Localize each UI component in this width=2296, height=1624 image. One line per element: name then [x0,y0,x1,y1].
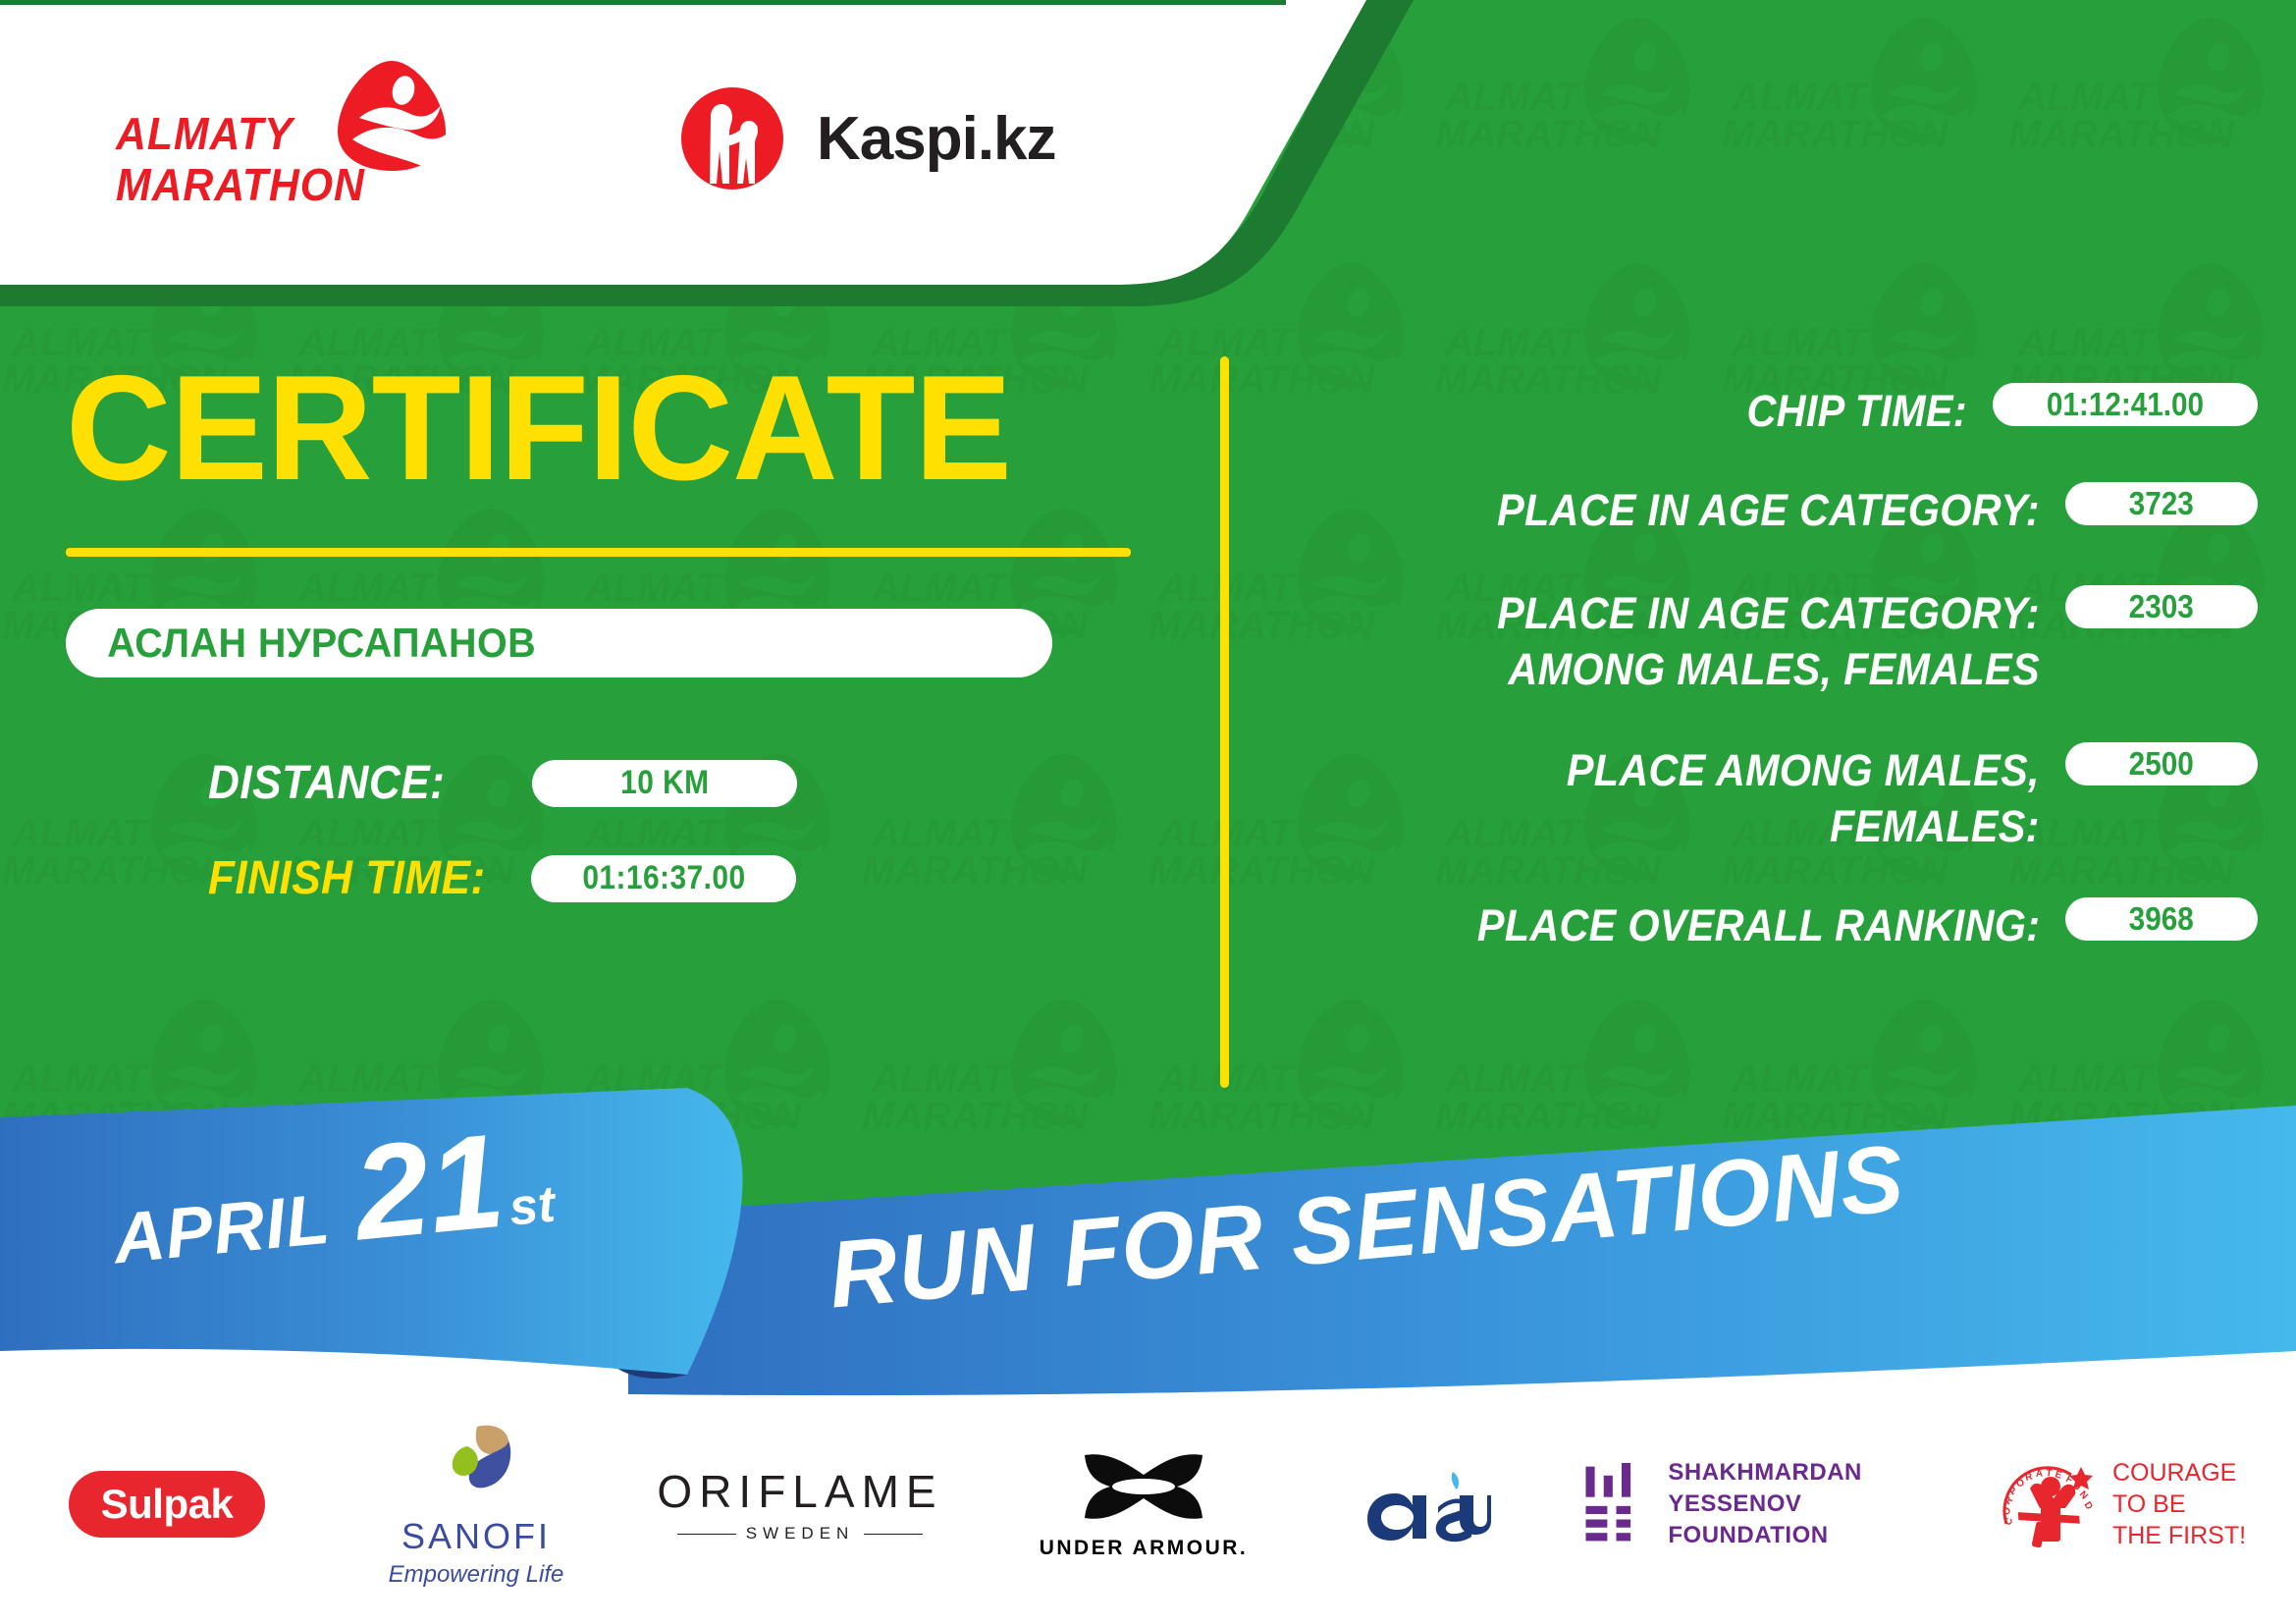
yessenov-foundation-logo [1580,1459,1648,1549]
oriflame-wordmark: ORIFLAME [657,1465,942,1518]
result-value: 3968 [2129,900,2194,938]
svg-text:O: O [2001,1505,2014,1517]
result-label: CHIP TIME: [1747,383,1967,439]
distance-label: DISTANCE: [208,756,445,810]
sponsor-sulpak: Sulpak [0,1471,334,1538]
finish-time-value: 01:16:37.00 [582,859,745,897]
sponsor-courage-fund: C O R P O R A T E F U N D CO [1973,1453,2268,1555]
logo-line-2: MARATHON [116,159,365,210]
result-value-pill: 2303 [2065,585,2258,628]
under-armour-wordmark: UNDER ARMOUR. [1040,1537,1249,1560]
certificate-left-column: CERTIFICATE АСЛАН НУРСАПАНОВ DISTANCE: 1… [54,353,1163,905]
certificate-title: CERTIFICATE [66,353,1142,503]
header-top-accent-line [0,0,1286,5]
kaspi-circle-people-icon [677,83,787,193]
sponsor-under-armour: UNDER ARMOUR. [982,1449,1306,1560]
result-row: PLACE AMONG MALES, FEMALES: 2500 [1276,742,2258,854]
courage-tagline: COURAGE TO BE THE FIRST! [2112,1457,2246,1551]
oriflame-rule-left [677,1534,736,1535]
sponsor-bar: Sulpak SANOFI Empowering Life ORIFLAME S… [0,1426,2296,1583]
result-label: PLACE IN AGE CATEGORY: [1497,482,2040,538]
result-value: 01:12:41.00 [2047,386,2204,423]
svg-text:N: N [2077,1489,2090,1502]
almaty-marathon-logo: ALMATY MARATHON [116,57,459,185]
event-day-suffix: st [507,1175,558,1238]
kaspi-logo: Kaspi.kz [677,83,1056,193]
courage-to-be-the-first-logo: C O R P O R A T E F U N D [1995,1453,2103,1555]
sponsor-oriflame: ORIFLAME SWEDEN [618,1465,982,1543]
sanofi-tagline: Empowering Life [389,1561,564,1589]
svg-text:E: E [2054,1469,2063,1482]
title-underline-rule [66,548,1131,557]
finish-time-label: FINISH TIME: [208,851,486,905]
result-row: PLACE IN AGE CATEGORY: 3723 [1276,482,2258,538]
result-row: PLACE IN AGE CATEGORY: AMONG MALES, FEMA… [1276,585,2258,697]
asu-logo [1360,1460,1526,1544]
result-value: 2500 [2129,745,2194,783]
result-value: 2303 [2129,588,2194,625]
yessenov-foundation-wordmark: SHAKHMARDAN YESSENOV FOUNDATION [1668,1457,1973,1551]
event-day: 21 [349,1121,508,1253]
distance-value: 10 KM [620,764,709,802]
svg-text:F: F [2064,1474,2075,1487]
result-value-pill: 01:12:41.00 [1993,383,2258,426]
oriflame-country: SWEDEN [746,1524,855,1543]
column-divider [1220,356,1229,1088]
result-value-pill: 3968 [2065,897,2258,941]
svg-text:D: D [2081,1500,2094,1512]
sanofi-wordmark: SANOFI [389,1516,564,1557]
participant-name-field: АСЛАН НУРСАПАНОВ [66,609,1052,677]
sanofi-logo [432,1421,520,1507]
finish-time-value-pill: 01:16:37.00 [531,855,796,902]
certificate-page: ALMATY MARATHON ALMATY [0,0,2296,1624]
sulpak-logo: Sulpak [69,1471,265,1538]
sponsor-yessenov-foundation: SHAKHMARDAN YESSENOV FOUNDATION [1580,1457,1973,1551]
result-value: 3723 [2129,485,2194,522]
kaspi-wordmark: Kaspi.kz [817,104,1056,174]
svg-text:R: R [2024,1471,2034,1484]
svg-text:A: A [2035,1469,2043,1480]
participant-name-value: АСЛАН НУРСАПАНОВ [66,620,536,667]
oriflame-sub: SWEDEN [657,1524,942,1543]
sulpak-wordmark: Sulpak [101,1481,234,1528]
results-column: CHIP TIME: 01:12:41.00 PLACE IN AGE CATE… [1276,383,2258,997]
result-value-pill: 3723 [2065,482,2258,525]
result-label: PLACE AMONG MALES, FEMALES: [1567,742,2040,854]
sponsor-asu [1306,1460,1580,1549]
oriflame-rule-right [864,1534,923,1535]
almaty-marathon-wordmark: ALMATY MARATHON [116,108,365,210]
result-value-pill: 2500 [2065,742,2258,785]
result-label: PLACE OVERALL RANKING: [1477,897,2040,953]
under-armour-logo [1075,1449,1212,1526]
result-row: CHIP TIME: 01:12:41.00 [1276,383,2258,439]
distance-row: DISTANCE: 10 KM [66,756,1163,810]
logo-line-1: ALMATY [116,108,365,159]
result-label: PLACE IN AGE CATEGORY: AMONG MALES, FEMA… [1497,585,2040,697]
svg-text:T: T [2046,1468,2053,1480]
header-bar: ALMATY MARATHON Kaspi.kz [0,0,1276,280]
finish-time-row: FINISH TIME: 01:16:37.00 [66,851,1163,905]
result-row: PLACE OVERALL RANKING: 3968 [1276,897,2258,953]
distance-value-pill: 10 KM [532,760,797,807]
sponsor-sanofi: SANOFI Empowering Life [334,1421,618,1589]
